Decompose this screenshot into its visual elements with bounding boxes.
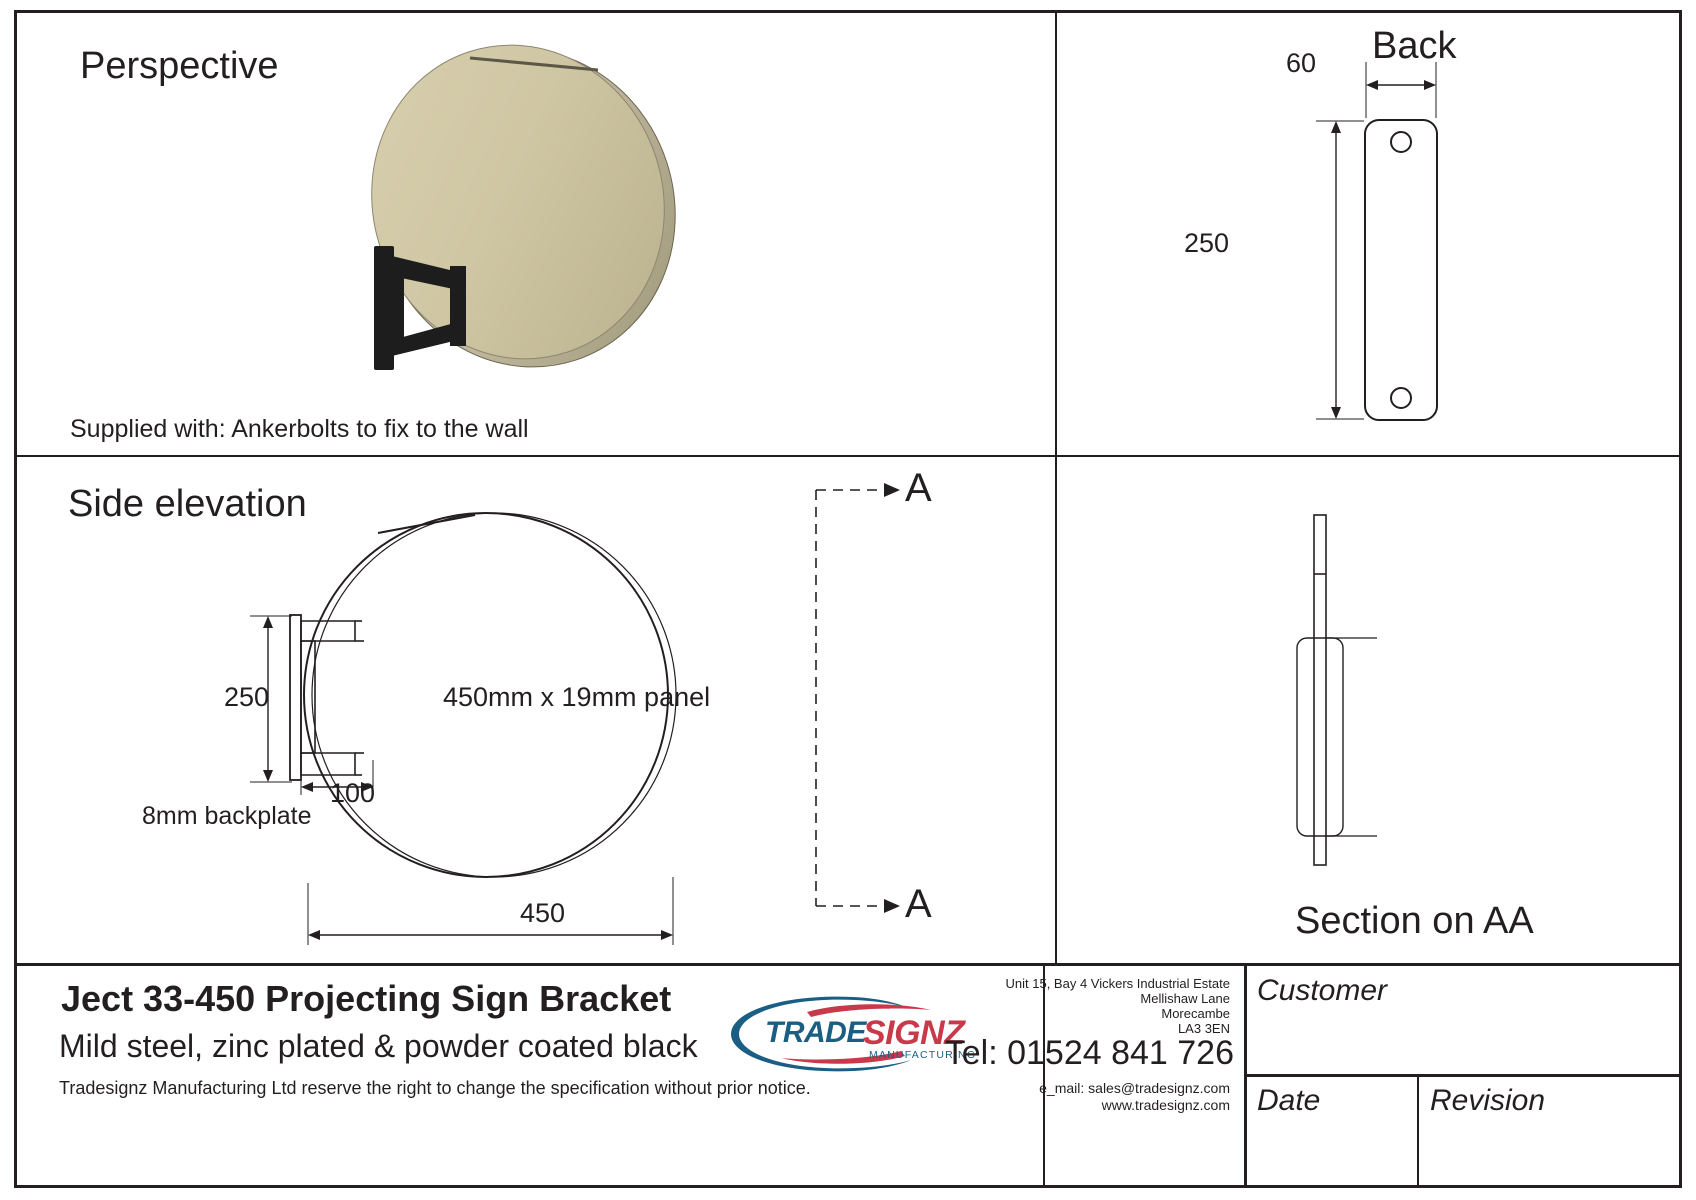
drawing-title-text: Ject 33-450 Projecting Sign Bracket bbox=[61, 978, 671, 1020]
perspective-illustration bbox=[330, 50, 850, 410]
company-logo: TRADE SIGNZ MANUFACTURING bbox=[729, 994, 977, 1074]
address-line-1: Unit 15, Bay 4 Vickers Industrial Estate bbox=[1006, 976, 1230, 991]
section-marker-a-top: A bbox=[905, 466, 932, 511]
svg-text:TRADE: TRADE bbox=[765, 1016, 867, 1049]
address-line-2: Mellishaw Lane bbox=[1006, 991, 1230, 1006]
horizontal-divider-middle bbox=[17, 455, 1679, 457]
back-view-drawing bbox=[1180, 20, 1580, 420]
title-block: Ject 33-450 Projecting Sign Bracket Mild… bbox=[17, 966, 1679, 1185]
disclaimer-text: Tradesignz Manufacturing Ltd reserve the… bbox=[59, 1078, 811, 1099]
email-address: e_mail: sales@tradesignz.com bbox=[1039, 1080, 1230, 1097]
section-cut-line bbox=[812, 478, 952, 918]
back-width-dimension: 60 bbox=[1286, 48, 1316, 79]
telephone-number: Tel: 01524 841 726 bbox=[945, 1034, 1234, 1073]
side-diameter-dimension: 450 bbox=[520, 898, 565, 929]
title-block-divider-3 bbox=[1417, 1076, 1419, 1185]
date-field-label[interactable]: Date bbox=[1257, 1084, 1320, 1118]
website-url: www.tradesignz.com bbox=[1039, 1097, 1230, 1114]
section-marker-a-bottom: A bbox=[905, 882, 932, 927]
side-projection-dimension: 100 bbox=[330, 778, 375, 809]
contact-web: e_mail: sales@tradesignz.com www.tradesi… bbox=[1039, 1080, 1230, 1114]
back-height-dimension: 250 bbox=[1184, 228, 1229, 259]
section-aa-drawing bbox=[1285, 510, 1405, 870]
vertical-divider bbox=[1055, 13, 1057, 965]
backplate-note: 8mm backplate bbox=[142, 802, 312, 831]
company-address: Unit 15, Bay 4 Vickers Industrial Estate… bbox=[1006, 976, 1230, 1036]
side-height-dimension: 250 bbox=[224, 682, 269, 713]
contact-cell: Unit 15, Bay 4 Vickers Industrial Estate… bbox=[1045, 966, 1244, 1185]
revision-field-label[interactable]: Revision bbox=[1430, 1084, 1545, 1118]
material-spec-text: Mild steel, zinc plated & powder coated … bbox=[59, 1028, 698, 1065]
drawing-sheet: Perspective Supplied with: Ankerbolts to… bbox=[0, 0, 1696, 1200]
perspective-supplied-note: Supplied with: Ankerbolts to fix to the … bbox=[70, 415, 529, 444]
panel-spec-label: 450mm x 19mm panel bbox=[443, 682, 710, 713]
tradesignz-logo-icon: TRADE SIGNZ MANUFACTURING bbox=[729, 994, 977, 1074]
section-on-aa-title: Section on AA bbox=[1295, 900, 1534, 943]
perspective-view-title: Perspective bbox=[80, 45, 279, 88]
customer-field-label[interactable]: Customer bbox=[1257, 974, 1387, 1008]
title-block-divider-4 bbox=[1244, 1074, 1679, 1077]
address-line-3: Morecambe bbox=[1006, 1006, 1230, 1021]
